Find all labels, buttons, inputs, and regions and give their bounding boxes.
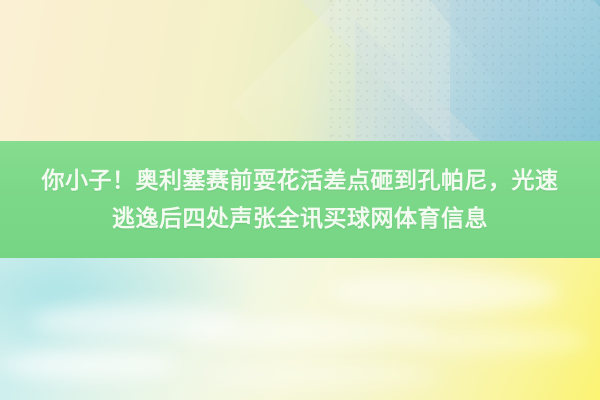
headline-line-1: 你小子！奥利塞赛前耍花活差点砸到孔帕尼，光速 — [10, 162, 590, 200]
cloud-wisp-icon — [330, 272, 560, 312]
top-gradient-area — [0, 0, 600, 141]
headline-band: 你小子！奥利塞赛前耍花活差点砸到孔帕尼，光速 逃逸后四处声张全讯买球网体育信息 — [0, 141, 600, 258]
bottom-gradient-area — [0, 258, 600, 400]
cloud-wisp-icon — [175, 318, 435, 348]
cloud-wisp-icon — [200, 362, 440, 388]
cloud-wisp-icon — [0, 350, 180, 380]
cloud-wisp-icon — [400, 328, 590, 354]
headline-line-2: 逃逸后四处声张全讯买球网体育信息 — [10, 200, 590, 238]
promo-banner: 你小子！奥利塞赛前耍花活差点砸到孔帕尼，光速 逃逸后四处声张全讯买球网体育信息 — [0, 0, 600, 400]
dot-texture-overlay — [330, 0, 600, 141]
